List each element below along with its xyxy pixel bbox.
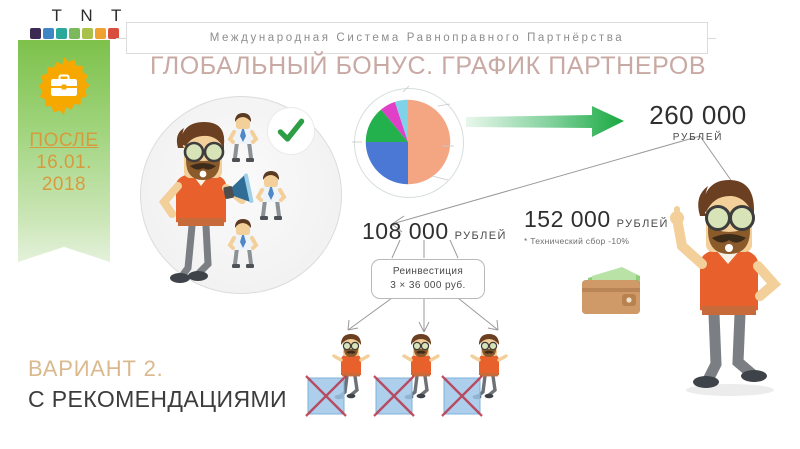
pie-slices (364, 98, 452, 186)
total-amount-unit: РУБЛЕЙ (633, 132, 763, 143)
payout-amount-unit: РУБЛЕЙ (617, 218, 669, 230)
gear-briefcase-icon (32, 54, 96, 118)
ribbon-tail (18, 226, 110, 262)
reinvest-amount-unit: РУБЛЕЙ (455, 230, 507, 242)
date-ribbon: ПОСЛЕ 16.01. 2018 (18, 40, 110, 260)
ribbon-date-line2: 16.01. (18, 152, 110, 174)
total-amount-label: 260 000 РУБЛЕЙ (633, 100, 763, 143)
variant-description: С РЕКОМЕНДАЦИЯМИ (28, 386, 287, 413)
crossed-out-box-icon (372, 374, 416, 418)
page-title: ГЛОБАЛЬНЫЙ БОНУС. ГРАФИК ПАРТНЕРОВ (150, 52, 710, 81)
reinvest-amount-label: 108 000РУБЛЕЙ (362, 218, 507, 245)
green-gradient-arrow-icon (466, 104, 626, 140)
ribbon-date: ПОСЛЕ 16.01. 2018 (18, 130, 110, 196)
brand-dot-4 (82, 28, 93, 39)
brand-dot-5 (95, 28, 106, 39)
infographic-slide: T N T ПОСЛЕ 16.01. 2018 Международная Си… (0, 0, 800, 449)
reinvest-box: Реинвестиция 3 × 36 000 руб. (371, 259, 485, 299)
check-badge (268, 108, 314, 154)
partners-pie-chart (352, 86, 474, 198)
brand-dot-1 (43, 28, 54, 39)
office-worker-icon (255, 170, 287, 222)
reinvest-title: Реинвестиция (393, 265, 463, 279)
subtitle-banner: Международная Система Равноправного Парт… (126, 22, 708, 54)
ribbon-date-line3: 2018 (18, 174, 110, 196)
brand-dot-2 (56, 28, 67, 39)
crossed-out-box-icon (440, 374, 484, 418)
payout-amount-label: 152 000РУБЛЕЙ* (524, 206, 682, 233)
fee-note: * Технический сбор -10% (524, 236, 629, 246)
subtitle-text: Международная Система Равноправного Парт… (210, 32, 625, 44)
pie-slice-1 (366, 142, 408, 184)
total-amount-value: 260 000 (633, 100, 763, 131)
brand-dot-3 (69, 28, 80, 39)
reinvest-amount-value: 108 000 (362, 218, 449, 244)
crossed-out-box-icon (304, 374, 348, 418)
ribbon-date-line1: ПОСЛЕ (18, 130, 110, 152)
office-worker-icon (227, 218, 259, 270)
office-worker-icon (227, 112, 259, 164)
payout-amount-value: 152 000 (524, 206, 611, 232)
variant-heading: ВАРИАНТ 2. (28, 356, 164, 382)
pie-slice-0 (408, 100, 450, 184)
reinvest-formula: 3 × 36 000 руб. (390, 279, 465, 293)
brand-dot-0 (30, 28, 41, 39)
wallet-with-money-icon (578, 262, 652, 324)
green-check-icon (276, 116, 306, 146)
hipster-pointing-up-icon (668, 168, 788, 398)
